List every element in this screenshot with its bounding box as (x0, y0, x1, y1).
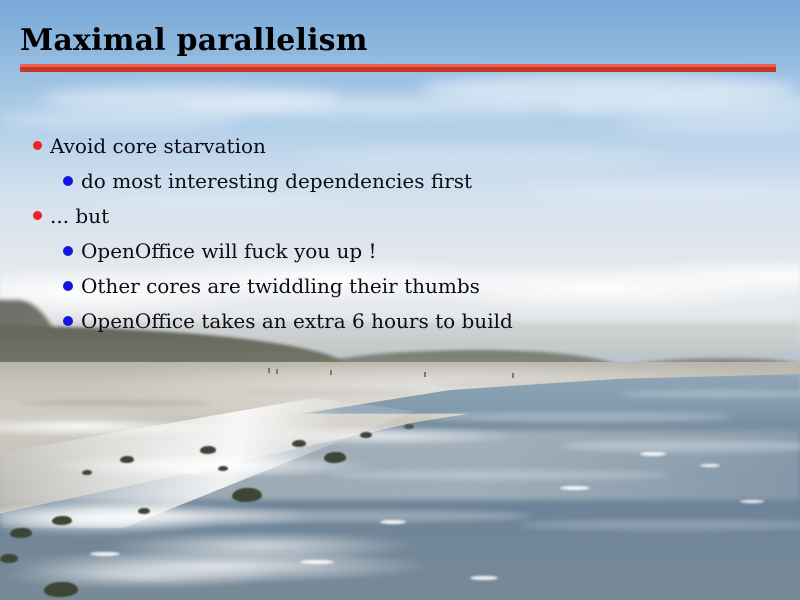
bullet-list: Avoid core starvation do most interestin… (0, 128, 800, 338)
list-item-label: OpenOffice takes an extra 6 hours to bui… (81, 309, 513, 333)
list-item-label: do most interesting dependencies first (81, 169, 472, 193)
slide-content: Maximal parallelism Avoid core starvatio… (0, 0, 800, 600)
list-item: OpenOffice will fuck you up ! (0, 233, 800, 268)
list-item-label: ... but (50, 204, 109, 228)
list-item: OpenOffice takes an extra 6 hours to bui… (0, 303, 800, 338)
title-rule-shadow (20, 67, 776, 72)
bullet-dot-icon (63, 176, 73, 186)
list-item: Avoid core starvation (0, 128, 800, 163)
list-item: do most interesting dependencies first (0, 163, 800, 198)
slide-title: Maximal parallelism (20, 24, 368, 58)
title-underline-rule (20, 64, 776, 72)
bullet-dot-icon (33, 141, 42, 150)
list-item: Other cores are twiddling their thumbs (0, 268, 800, 303)
bullet-dot-icon (63, 246, 73, 256)
list-item-label: OpenOffice will fuck you up ! (81, 239, 377, 263)
list-item-label: Avoid core starvation (50, 134, 266, 158)
bullet-dot-icon (63, 316, 73, 326)
bullet-dot-icon (63, 281, 73, 291)
list-item-label: Other cores are twiddling their thumbs (81, 274, 480, 298)
list-item: ... but (0, 198, 800, 233)
bullet-dot-icon (33, 211, 42, 220)
presentation-slide: Maximal parallelism Avoid core starvatio… (0, 0, 800, 600)
